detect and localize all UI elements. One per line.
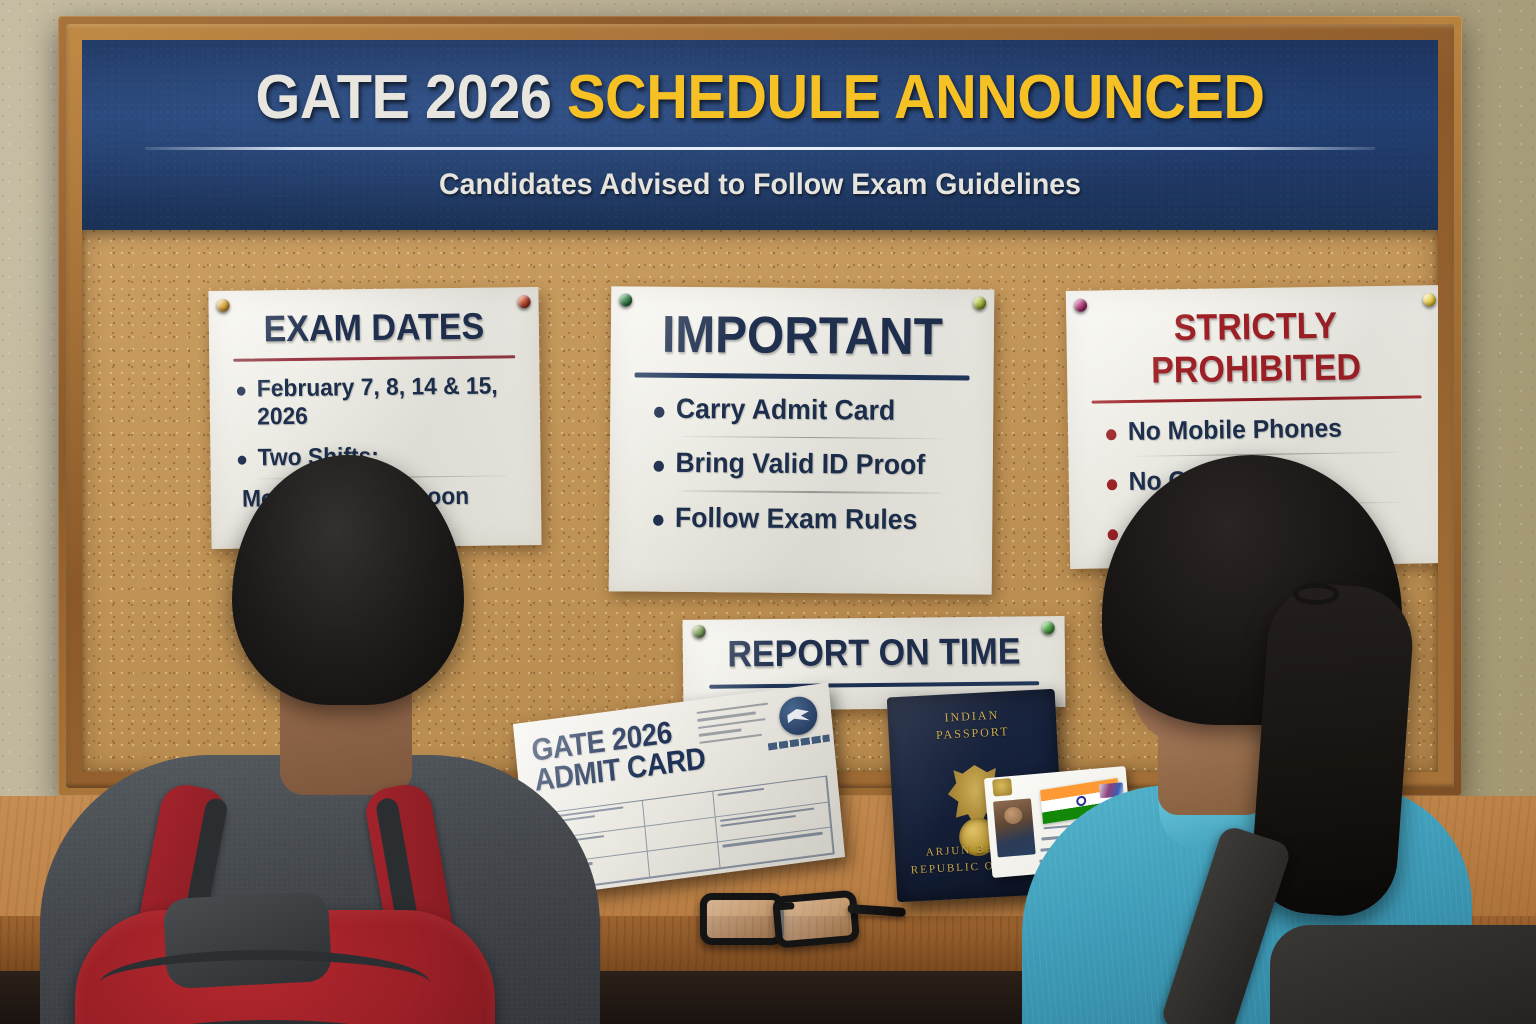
bullet-icon (653, 515, 664, 526)
notice-important[interactable]: IMPORTANT Carry Admit Card Bring Valid I… (609, 286, 995, 594)
exam-authority-logo-icon (778, 694, 819, 737)
list-item: Follow Exam Rules (638, 502, 964, 536)
notice-title: STRICTLY PROHIBITED (1100, 304, 1412, 393)
pushpin-icon (1423, 293, 1436, 306)
list-item-label: Follow Exam Rules (675, 502, 918, 535)
bullet-icon (653, 461, 664, 472)
pushpin-icon (973, 296, 986, 309)
table-cell (648, 843, 721, 878)
pushpin-icon (1074, 299, 1087, 312)
notice-separator (682, 490, 943, 494)
pushpin-icon (619, 293, 632, 306)
banner-subtitle: Candidates Advised to Follow Exam Guidel… (116, 168, 1404, 202)
table-cell (716, 802, 831, 842)
bullet-icon (1106, 429, 1117, 440)
announcement-banner: GATE 2026 SCHEDULE ANNOUNCED Candidates … (82, 40, 1438, 230)
pushpin-icon (693, 625, 706, 638)
hair-tie-icon (1293, 583, 1339, 605)
list-item-label: February 7, 8, 14 & 15, 2026 (257, 372, 513, 430)
notice-divider (1092, 395, 1422, 403)
list-item: Carry Admit Card (639, 394, 965, 428)
list-item: No Mobile Phones (1096, 412, 1418, 446)
table-cell (645, 817, 718, 852)
banner-title-yellow: SCHEDULE ANNOUNCED (567, 63, 1264, 132)
pushpin-icon (217, 299, 230, 312)
eyeglasses[interactable] (699, 883, 902, 955)
passport-line2: PASSPORT (888, 722, 1057, 746)
list-item-label: Carry Admit Card (676, 394, 896, 427)
notice-separator (682, 436, 943, 440)
notice-divider (635, 373, 970, 381)
banner-title: GATE 2026 SCHEDULE ANNOUNCED (129, 62, 1390, 133)
male-student-hair (232, 455, 464, 705)
list-item-label: Bring Valid ID Proof (675, 448, 925, 481)
list-item: February 7, 8, 14 & 15, 2026 (237, 372, 513, 431)
notice-divider (233, 355, 515, 361)
bullet-icon (654, 406, 665, 417)
admit-card-instructions (697, 703, 772, 749)
table-cell (713, 777, 828, 817)
passport-line1: INDIAN (888, 705, 1057, 729)
notice-title: IMPORTANT (644, 305, 960, 368)
banner-divider (145, 147, 1375, 150)
male-student (0, 455, 620, 1024)
list-item-label: No Mobile Phones (1128, 414, 1342, 446)
notice-divider (709, 681, 1039, 688)
notice-title: EXAM DATES (240, 305, 507, 350)
table-cell (643, 792, 716, 827)
banner-title-white: GATE 2026 (255, 63, 567, 132)
female-student (1040, 455, 1536, 1024)
glasses-right-lens (772, 890, 860, 949)
pushpin-icon (518, 295, 531, 308)
id-photo (993, 798, 1036, 857)
logo-wordmark (768, 734, 830, 750)
glasses-bridge (778, 902, 794, 910)
bullet-icon (237, 386, 246, 395)
id-emblem-icon (992, 778, 1012, 797)
glasses-left-lens (700, 893, 784, 945)
list-item: Bring Valid ID Proof (638, 448, 964, 482)
dark-backpack (1270, 925, 1536, 1024)
notice-title: REPORT ON TIME (718, 630, 1029, 675)
